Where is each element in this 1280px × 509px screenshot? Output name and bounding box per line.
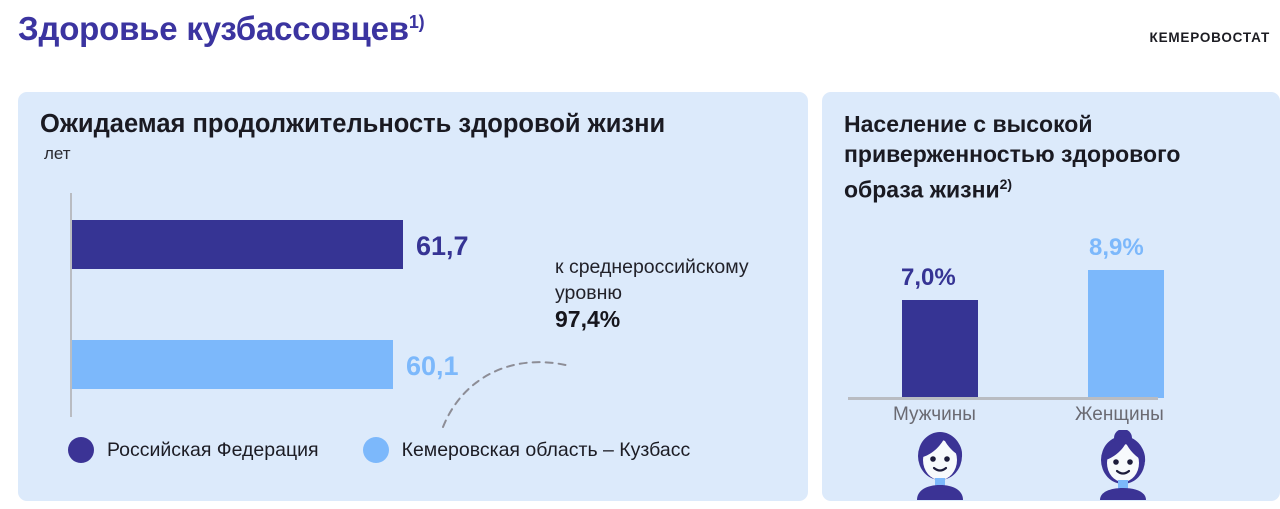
legend-item-russian-federation[interactable]: Российская Федерация (68, 437, 319, 463)
bar-value-women: 8,9% (1089, 234, 1144, 262)
bar-women (1088, 270, 1164, 398)
annotation-line-2: уровню (555, 280, 805, 306)
brand-logo: КЕМЕРОВОСТАТ (1150, 30, 1270, 45)
panel-healthy-lifestyle: Население с высокой приверженностью здор… (822, 92, 1280, 501)
legend-item-kemerovo-region[interactable]: Кемеровская область – Кузбасс (363, 437, 691, 463)
bar-value-men: 7,0% (901, 264, 956, 292)
annotation-percent-value: 97,4% (555, 306, 805, 332)
male-avatar-icon (897, 430, 983, 500)
legend-dot-icon-kemerovo-region (363, 437, 389, 463)
page-title-text: Здоровье кузбассовцев (18, 10, 409, 47)
annotation-line-1: к среднероссийскому (555, 254, 805, 280)
legend-dot-icon-russian-federation (68, 437, 94, 463)
female-avatar-icon (1080, 430, 1166, 500)
bar-men (902, 300, 978, 398)
bar-value-kemerovo-region: 60,1 (406, 351, 459, 382)
page-title: Здоровье кузбассовцев1) (18, 10, 424, 48)
comparison-annotation: к среднероссийскому уровню 97,4% (555, 254, 805, 332)
page-title-footnote-marker: 1) (409, 12, 425, 32)
healthy-lifestyle-footnote-marker: 2) (1000, 176, 1012, 192)
vertical-chart-baseline (848, 397, 1158, 400)
bar-russian-federation (72, 220, 403, 269)
panel-life-expectancy: Ожидаемая продолжительность здоровой жиз… (18, 92, 808, 501)
life-expectancy-units-label: лет (44, 144, 71, 164)
bar-kemerovo-region (72, 340, 393, 389)
life-expectancy-title: Ожидаемая продолжительность здоровой жиз… (40, 110, 665, 139)
legend-label-kemerovo-region: Кемеровская область – Кузбасс (402, 439, 691, 462)
legend-label-russian-federation: Российская Федерация (107, 439, 319, 462)
bar-value-russian-federation: 61,7 (416, 231, 469, 262)
category-label-men: Мужчины (893, 404, 976, 426)
category-label-women: Женщины (1075, 404, 1164, 426)
healthy-lifestyle-title-text: Население с высокой приверженностью здор… (844, 111, 1180, 203)
legend: Российская Федерация Кемеровская область… (68, 437, 690, 463)
healthy-lifestyle-title: Население с высокой приверженностью здор… (844, 109, 1264, 205)
